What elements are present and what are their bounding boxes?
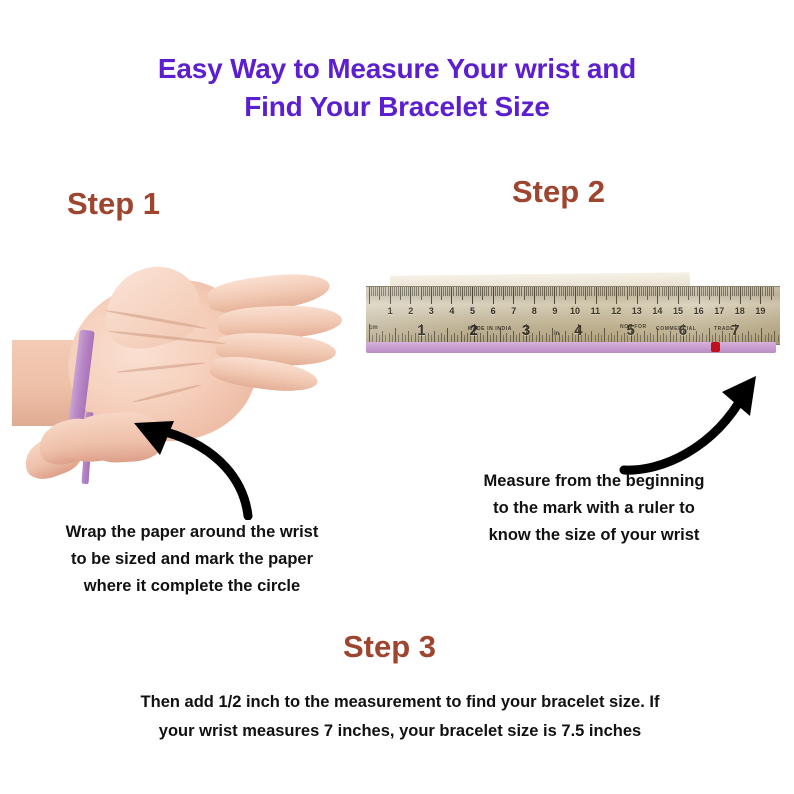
ruler-cm-tick (480, 287, 481, 296)
ruler-cm-tick (769, 287, 770, 296)
ruler-cm-tick (744, 287, 745, 296)
ruler-inch-tick (774, 331, 775, 342)
ruler-cm-tick (439, 287, 440, 296)
ruler-cm-tick (750, 287, 751, 300)
ruler-cm-label: 5 (470, 307, 475, 316)
ruler-inch-tick (568, 335, 569, 342)
ruler-cm-tick (697, 287, 698, 296)
ruler-cm-tick (466, 287, 467, 296)
ruler-cm-tick (418, 287, 419, 296)
page-title: Easy Way to Measure Your wrist and Find … (0, 50, 794, 126)
ruler-inch-tick (588, 335, 589, 342)
ruler-cm-tick (723, 287, 724, 296)
ruler-cm-tick (497, 287, 498, 296)
ruler-cm-tick (762, 287, 763, 296)
ruler-inch-tick (748, 331, 749, 342)
step-2-caption-line-3: know the size of your wrist (398, 522, 790, 549)
ruler-inch-tick (552, 328, 553, 342)
ruler-stamp-trade: TRADE (714, 327, 734, 332)
ruler-cm-tick (540, 287, 541, 296)
ruler-inch-tick (464, 335, 465, 342)
ruler-cm-tick (377, 287, 378, 296)
ruler-cm-label: 13 (632, 307, 642, 316)
ruler-cm-tick (484, 287, 485, 296)
ruler-cm-tick (406, 287, 407, 296)
ruler-cm-tick (546, 287, 547, 296)
ruler-cm-tick (491, 287, 492, 296)
ruler-inch-tick (562, 335, 563, 342)
ruler-inch-tick (778, 335, 779, 342)
ruler-cm-tick (680, 287, 681, 296)
ruler-inch-tick (379, 335, 380, 342)
ruler-cm-tick (561, 287, 562, 296)
ruler-cm-tick (536, 287, 537, 296)
ruler-cm-label: 16 (694, 307, 704, 316)
ruler-inch-tick (389, 333, 390, 342)
ruler-cm-tick (577, 287, 578, 296)
ruler-inch-tick (670, 331, 671, 342)
ruler-cm-tick (441, 287, 442, 300)
ruler-cm-tick (662, 287, 663, 296)
ruler-cm-tick (573, 287, 574, 296)
ruler-cm-tick (587, 287, 588, 296)
ruler-inch-tick (637, 333, 638, 342)
ruler-cm-tick (635, 287, 636, 296)
ruler-cm-tick (668, 287, 669, 300)
ruler-cm-tick (565, 287, 566, 300)
ruler-cm-tick (534, 287, 535, 304)
ruler-cm-tick (596, 287, 597, 304)
ruler-cm-tick (651, 287, 652, 296)
ruler-cm-tick (392, 287, 393, 296)
ruler-cm-tick (692, 287, 693, 296)
ruler-cm-tick (758, 287, 759, 296)
ruler-cm-tick (431, 287, 432, 304)
ruler-cm-tick (591, 287, 592, 296)
ruler-cm-tick (639, 287, 640, 296)
ruler-cm-label: 9 (552, 307, 557, 316)
ruler-inch-tick (696, 331, 697, 342)
ruler-cm-tick (629, 287, 630, 296)
page-title-line-1: Easy Way to Measure Your wrist and (0, 50, 794, 88)
ruler-cm-tick (410, 287, 411, 304)
ruler-cm-tick (404, 287, 405, 296)
ruler-inch-tick (506, 333, 507, 342)
ruler-inch-tick (650, 333, 651, 342)
ruler-cm-tick (499, 287, 500, 296)
ruler-cm-tick (581, 287, 582, 296)
ruler-cm-tick (756, 287, 757, 296)
ruler-inch-tick (402, 333, 403, 342)
ruler-cm-tick (633, 287, 634, 296)
ruler-inch-tick (771, 335, 772, 342)
ruler-cm-tick (550, 287, 551, 296)
ruler-inch-tick (765, 335, 766, 342)
ruler-cm-tick (641, 287, 642, 296)
ruler-inch-tick (768, 333, 769, 342)
ruler-cm-tick (513, 287, 514, 304)
ruler-inch-tick (591, 331, 592, 342)
ruler-cm-tick (674, 287, 675, 296)
ruler-cm-label: 14 (652, 307, 662, 316)
ruler-inch-tick (647, 335, 648, 342)
ruler-cm-tick (433, 287, 434, 296)
ruler-cm-tick (472, 287, 473, 304)
ruler-cm-tick (474, 287, 475, 296)
step-3-caption-line-2: your wrist measures 7 inches, your brace… (60, 717, 740, 746)
step-2-caption: Measure from the beginning to the mark w… (398, 468, 790, 549)
ruler-cm-label: 8 (532, 307, 537, 316)
ruler-inch-tick (467, 333, 468, 342)
ruler-cm-tick (388, 287, 389, 296)
ruler-cm-tick (622, 287, 623, 296)
ruler-inch-tick (438, 335, 439, 342)
ruler-inch-tick (699, 335, 700, 342)
ruler-inch-tick (434, 331, 435, 342)
ruler-inch-tick (441, 333, 442, 342)
ruler-cm-tick (567, 287, 568, 296)
ruler-cm-tick (402, 287, 403, 296)
ruler-inch-tick (483, 335, 484, 342)
ruler-inch-tick (454, 333, 455, 342)
ruler-cm-tick (600, 287, 601, 296)
ruler-cm-tick (713, 287, 714, 296)
ruler-inch-tick (715, 333, 716, 342)
ruler-inch-label: 4 (574, 323, 582, 338)
ruler-cm-tick (709, 287, 710, 300)
ruler-inch-tick (709, 328, 710, 342)
ruler-cm-tick (676, 287, 677, 296)
ruler-cm-tick (548, 287, 549, 296)
ruler-inch-tick (385, 335, 386, 342)
red-measurement-mark (711, 342, 720, 352)
arrow-to-wrist-mark-icon (112, 408, 292, 520)
ruler-cm-tick (464, 287, 465, 296)
ruler-cm-label: 6 (491, 307, 496, 316)
ruler-inch-tick (702, 333, 703, 342)
ruler-inch-tick (644, 331, 645, 342)
ruler-cm-tick (544, 287, 545, 300)
ruler-cm-tick (554, 287, 555, 304)
ruler-cm-tick (620, 287, 621, 296)
ruler-inch-tick (621, 335, 622, 342)
step-2-caption-line-2: to the mark with a ruler to (398, 495, 790, 522)
ruler-cm-tick (694, 287, 695, 296)
ruler-inch-tick (706, 335, 707, 342)
ruler-cm-tick (414, 287, 415, 296)
ruler-inch-tick (546, 333, 547, 342)
ruler-cm-tick (686, 287, 687, 296)
ruler-inch-tick (693, 335, 694, 342)
ruler-inch-tick (722, 331, 723, 342)
ruler-cm-tick (503, 287, 504, 300)
ruler-cm-tick (616, 287, 617, 304)
ruler-cm-tick (556, 287, 557, 296)
ruler-cm-tick (453, 287, 454, 296)
ruler-cm-tick (589, 287, 590, 296)
ruler-inch-tick (653, 335, 654, 342)
ruler-cm-tick (690, 287, 691, 296)
ruler-inch-tick (428, 333, 429, 342)
ruler-cm-tick (608, 287, 609, 296)
ruler-cm-tick (612, 287, 613, 296)
ruler-inch-tick (411, 335, 412, 342)
ruler-cm-tick (482, 287, 483, 300)
ruler-inch-tick (729, 333, 730, 342)
ruler-cm-tick (515, 287, 516, 296)
ruler-cm-tick (773, 287, 774, 296)
ruler-cm-tick (748, 287, 749, 296)
ruler-cm-tick (672, 287, 673, 296)
ruler-inch-tick (758, 335, 759, 342)
ruler-cm-tick (495, 287, 496, 296)
ruler-cm-tick (736, 287, 737, 296)
ruler-cm-tick (682, 287, 683, 296)
ruler-inch-tick (532, 333, 533, 342)
ruler-cm-tick (624, 287, 625, 296)
ruler-cm-tick (437, 287, 438, 296)
step-2-caption-line-1: Measure from the beginning (398, 468, 790, 495)
ruler-cm-tick (530, 287, 531, 296)
ruler-cm-tick (740, 287, 741, 304)
ruler-cm-tick (653, 287, 654, 296)
ruler-cm-tick (408, 287, 409, 296)
ruler-inch-tick (755, 333, 756, 342)
ruler-inch-tick (516, 335, 517, 342)
ruler-inch-tick (415, 333, 416, 342)
ruler-cm-tick (664, 287, 665, 296)
ruler-cm-tick (771, 287, 772, 300)
ruler-cm-tick (505, 287, 506, 296)
ruler-stamp-not-for: NOT FOR (620, 325, 647, 330)
ruler-cm-tick (730, 287, 731, 300)
ruler-cm-tick (598, 287, 599, 296)
ruler-cm-label: 15 (673, 307, 683, 316)
ruler-cm-tick (456, 287, 457, 296)
ruler-cm-tick (655, 287, 656, 296)
ruler-cm-tick (765, 287, 766, 296)
ruler-cm-label: 1 (388, 307, 393, 316)
ruler-cm-label: 7 (511, 307, 516, 316)
ruler-cm-tick (511, 287, 512, 296)
ruler-cm-tick (542, 287, 543, 296)
ruler-cm-label: 11 (591, 307, 601, 316)
ruler-inch-tick (719, 335, 720, 342)
ruler-cm-tick (637, 287, 638, 304)
ruler-cm-tick (627, 287, 628, 300)
ruler-body: 12345678910111213141516171819 1234567 cm… (366, 286, 780, 345)
ruler-cm-tick (717, 287, 718, 296)
ruler-cm-tick (476, 287, 477, 296)
ruler-cm-tick (610, 287, 611, 296)
ruler-cm-label: 17 (714, 307, 724, 316)
ruler-inch-tick (572, 333, 573, 342)
ruler-cm-tick (390, 287, 391, 304)
ruler-inch-label: 1 (417, 323, 425, 338)
ruler-cm-tick (715, 287, 716, 296)
step-3-heading: Step 3 (343, 629, 436, 665)
ruler-inch-tick (676, 333, 677, 342)
ruler-inch-tick (444, 335, 445, 342)
ruler-inch-tick (663, 333, 664, 342)
ruler-inch-tick (745, 335, 746, 342)
ruler-cm-tick (594, 287, 595, 296)
ruler-cm-tick (493, 287, 494, 304)
step-2-ruler-illustration: 12345678910111213141516171819 1234567 cm… (366, 268, 780, 368)
ruler-inch-tick (595, 335, 596, 342)
ruler-inch-tick (751, 335, 752, 342)
ruler-cm-tick (666, 287, 667, 296)
ruler-inch-tick (398, 335, 399, 342)
ruler-cm-label: 12 (611, 307, 621, 316)
ruler-cm-tick (379, 287, 380, 300)
ruler-cm-tick (449, 287, 450, 296)
ruler-inch-tick (761, 328, 762, 342)
ruler-cm-tick (659, 287, 660, 296)
ruler-cm-tick (373, 287, 374, 296)
ruler-cm-tick (571, 287, 572, 296)
ruler-cm-tick (517, 287, 518, 296)
ruler-inch-tick (666, 335, 667, 342)
ruler-cm-tick (427, 287, 428, 296)
ruler-inch-tick (611, 333, 612, 342)
ruler-cm-tick (647, 287, 648, 300)
ruler-inch-tick (408, 331, 409, 342)
step-2-heading: Step 2 (512, 174, 605, 210)
ruler-inch-tick (565, 331, 566, 342)
step-1-caption-line-3: where it complete the circle (6, 573, 378, 600)
ruler-cm-tick (732, 287, 733, 296)
ruler-inch-unit-label: in (554, 331, 559, 337)
ruler-cm-tick (381, 287, 382, 296)
arrow-to-ruler-mark-icon (618, 372, 788, 480)
ruler-cm-tick (585, 287, 586, 300)
ruler-inch-tick (601, 335, 602, 342)
ruler-cm-tick (688, 287, 689, 300)
ruler-cm-tick (400, 287, 401, 300)
ruler-inch-tick (405, 335, 406, 342)
ruler-cm-label: 4 (449, 307, 454, 316)
ruler-cm-tick (604, 287, 605, 296)
step-1-caption-line-1: Wrap the paper around the wrist (6, 519, 378, 546)
ruler-cm-tick (711, 287, 712, 296)
ruler-inch-tick (457, 335, 458, 342)
ruler-cm-tick (501, 287, 502, 296)
ruler-inch-tick (451, 335, 452, 342)
ruler-cm-tick (701, 287, 702, 296)
ruler-cm-tick (460, 287, 461, 296)
ruler-cm-tick (398, 287, 399, 296)
ruler-inch-tick (447, 328, 448, 342)
ruler-cm-tick (528, 287, 529, 296)
ruler-cm-tick (752, 287, 753, 296)
ruler-cm-tick (631, 287, 632, 296)
ruler-cm-tick (429, 287, 430, 296)
ruler-inch-tick (519, 333, 520, 342)
ruler-cm-tick (468, 287, 469, 296)
ruler-cm-tick (423, 287, 424, 296)
ruler-cm-tick (488, 287, 489, 296)
ruler-cm-tick (606, 287, 607, 300)
ruler-cm-tick (421, 287, 422, 300)
ruler-cm-tick (563, 287, 564, 296)
ruler-cm-tick (754, 287, 755, 296)
ruler-cm-tick (521, 287, 522, 296)
ruler-inch-tick (742, 333, 743, 342)
ruler-inch-tick (640, 335, 641, 342)
ruler-cm-label: 2 (408, 307, 413, 316)
ruler-cm-tick (509, 287, 510, 296)
ruler-inch-tick (539, 331, 540, 342)
ruler-cm-tick (657, 287, 658, 304)
ruler-inch-tick (689, 333, 690, 342)
ruler-cm-tick (649, 287, 650, 296)
ruler-cm-tick (416, 287, 417, 296)
ruler-inch-tick (712, 335, 713, 342)
ruler-cm-tick (746, 287, 747, 296)
ruler-cm-tick (462, 287, 463, 300)
step-1-heading: Step 1 (67, 186, 160, 222)
step-3-caption: Then add 1/2 inch to the measurement to … (60, 688, 740, 746)
ruler-cm-tick (707, 287, 708, 296)
ruler-cm-tick (678, 287, 679, 304)
ruler-cm-tick (445, 287, 446, 296)
ruler-cm-tick (486, 287, 487, 296)
ruler-inch-tick (487, 331, 488, 342)
ruler-cm-tick (559, 287, 560, 296)
ruler-inch-tick (614, 335, 615, 342)
ruler-cm-tick (721, 287, 722, 296)
ruler-cm-label: 18 (735, 307, 745, 316)
ruler-cm-tick (767, 287, 768, 296)
ruler-inch-tick (585, 333, 586, 342)
ruler-cm-tick (684, 287, 685, 296)
ruler-cm-tick (734, 287, 735, 296)
ruler-cm-tick (425, 287, 426, 296)
ruler-cm-tick (519, 287, 520, 296)
ruler-inch-tick (372, 335, 373, 342)
ruler-cm-tick (478, 287, 479, 296)
ruler-cm-tick (385, 287, 386, 296)
ruler-inch-tick (673, 335, 674, 342)
ruler-cm-tick (575, 287, 576, 304)
ruler-cm-label: 10 (570, 307, 580, 316)
ruler-cm-tick (524, 287, 525, 300)
ruler-inch-label: 3 (522, 323, 530, 338)
ruler-cm-tick (643, 287, 644, 296)
ruler-cm-tick (727, 287, 728, 296)
ruler-cm-tick (742, 287, 743, 296)
ruler-cm-tick (383, 287, 384, 296)
ruler-inch-tick (382, 331, 383, 342)
ruler-cm-tick (725, 287, 726, 296)
ruler-cm-tick (699, 287, 700, 304)
ruler-inch-tick (513, 331, 514, 342)
ruler-inch-tick (725, 335, 726, 342)
ruler-inch-tick (493, 333, 494, 342)
ruler-cm-tick (435, 287, 436, 296)
ruler-cm-tick (532, 287, 533, 296)
ruler-cm-tick (583, 287, 584, 296)
ruler-cm-tick (396, 287, 397, 296)
ruler-cm-tick (443, 287, 444, 296)
ruler-cm-tick (371, 287, 372, 296)
ruler-cm-tick (618, 287, 619, 296)
ruler-cm-tick (538, 287, 539, 296)
page-title-line-2: Find Your Bracelet Size (0, 88, 794, 126)
ruler-cm-tick (614, 287, 615, 296)
ruler-stamp-commercial: COMMERCIAL (656, 327, 696, 332)
